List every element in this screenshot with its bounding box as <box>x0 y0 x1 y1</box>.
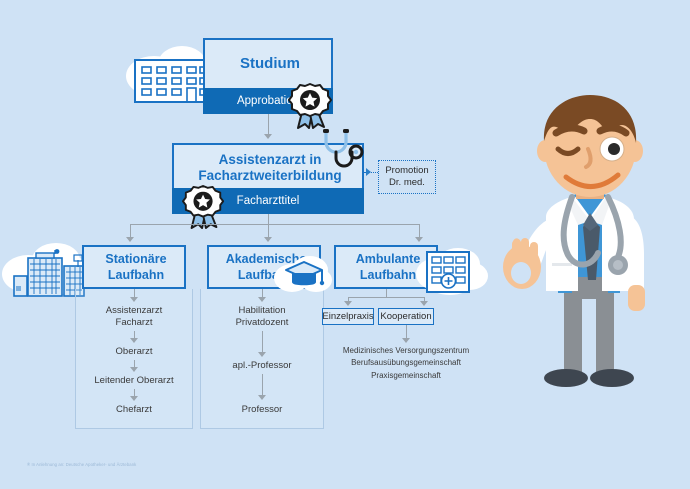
connector-arrow <box>130 338 138 343</box>
step-line: Privatdozent <box>200 317 324 329</box>
step-akademisch-1: Habilitation Privatdozent <box>200 305 324 328</box>
step-akademisch-2: apl.-Professor <box>200 360 324 372</box>
step-line: Oberarzt <box>75 346 193 358</box>
node-einzelpraxis-label: Einzelpraxis <box>322 311 373 322</box>
connector-branch-bar <box>130 224 419 225</box>
ambulant-cooperation-list: Medizinisches Versorgungszentrum Berufsa… <box>331 345 481 382</box>
column-stationaer-header[interactable]: Stationäre Laufbahn <box>82 245 186 289</box>
step-stationaer-1: Assistenzarzt Facharzt <box>75 305 193 328</box>
connector-arrow <box>264 237 272 242</box>
connector-arrow <box>264 134 272 139</box>
graduation-cap-icon <box>283 258 325 290</box>
step-line: apl.-Professor <box>200 360 324 372</box>
connector-branch-right <box>419 224 420 238</box>
list-item: Medizinisches Versorgungszentrum <box>331 345 481 357</box>
doctor-illustration <box>488 95 690 395</box>
connector-arrow <box>126 237 134 242</box>
step-stationaer-3: Leitender Oberarzt <box>75 375 193 387</box>
clipboard-medical-icon <box>424 250 472 294</box>
connector-arrow <box>420 301 428 306</box>
node-studium-title: Studium <box>205 55 335 72</box>
connector-col3-stem <box>386 289 387 297</box>
step-line: Professor <box>200 404 324 416</box>
step-line: Habilitation <box>200 305 324 317</box>
connector-arrow <box>258 352 266 357</box>
node-kooperation-label: Kooperation <box>380 311 431 322</box>
column-stationaer-title-line1: Stationäre <box>84 252 188 266</box>
step-akademisch-3: Professor <box>200 404 324 416</box>
node-promotion-line2: Dr. med. <box>389 177 425 189</box>
step-stationaer-2: Oberarzt <box>75 346 193 358</box>
connector-arrow <box>130 367 138 372</box>
step-stationaer-4: Chefarzt <box>75 404 193 416</box>
node-kooperation[interactable]: Kooperation <box>378 308 434 325</box>
connector-arrow <box>344 301 352 306</box>
connector-arrow-right <box>366 168 371 176</box>
connector-arrow <box>258 395 266 400</box>
connector-col3-down <box>406 325 407 339</box>
node-assistenzarzt-bar-label: Facharzttitel <box>237 195 300 207</box>
step-line: Facharzt <box>75 317 193 329</box>
list-item: Berufsausübungsgemeinschaft <box>331 357 481 369</box>
connector-branch-stem <box>268 214 269 224</box>
connector-branch-left <box>130 224 131 238</box>
award-rosette-icon <box>288 82 334 130</box>
step-line: Assistenzarzt <box>75 305 193 317</box>
node-promotion-line1: Promotion <box>385 165 428 177</box>
connector-studium-assistenzarzt <box>268 114 269 135</box>
node-einzelpraxis[interactable]: Einzelpraxis <box>322 308 374 325</box>
column-stationaer-title-line2: Laufbahn <box>84 268 188 282</box>
connector-branch-mid <box>268 224 269 238</box>
connector-arrow <box>402 338 410 343</box>
stethoscope-icon <box>318 128 366 172</box>
infographic-canvas: Studium Approbation Assistenzarzt in Fac… <box>0 0 690 489</box>
connector-col2 <box>262 374 263 396</box>
connector-arrow <box>415 237 423 242</box>
step-line: Chefarzt <box>75 404 193 416</box>
node-promotion[interactable]: Promotion Dr. med. <box>378 160 436 194</box>
connector-arrow <box>130 297 138 302</box>
list-item: Praxisgemeinschaft <box>331 370 481 382</box>
footer-source-note: ® In Anlehnung an: Deutsche Apotheker- u… <box>27 462 136 467</box>
connector-col2 <box>262 331 263 353</box>
connector-arrow <box>130 396 138 401</box>
connector-col3-bar <box>348 297 424 298</box>
university-building-icon <box>134 55 214 103</box>
connector-arrow <box>258 297 266 302</box>
step-line: Leitender Oberarzt <box>75 375 193 387</box>
